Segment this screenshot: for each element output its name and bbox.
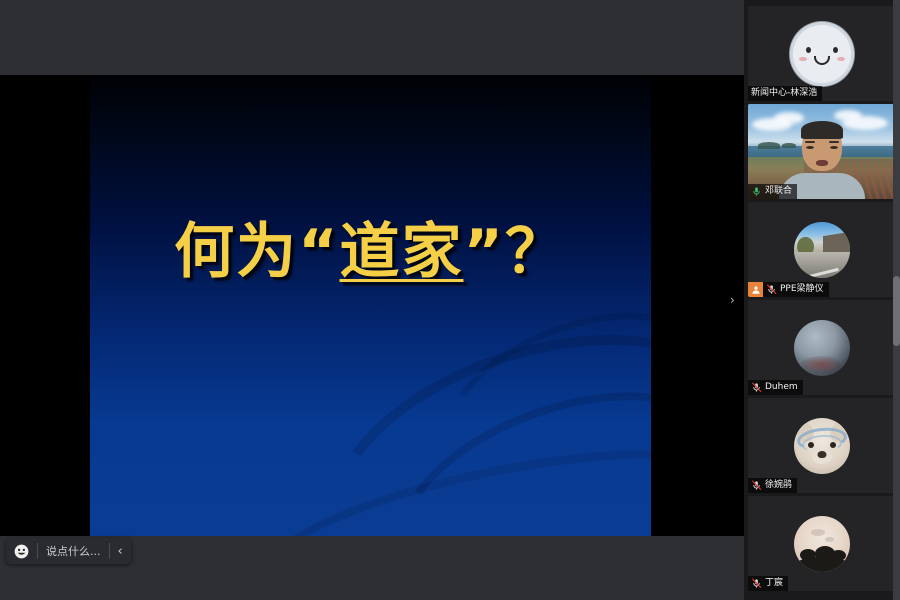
- avatar-blush: [837, 57, 845, 61]
- participant-name: 徐婉鹃: [765, 481, 792, 490]
- participant-footer: 徐婉鹃: [748, 478, 797, 493]
- participant-name-chip: 邓联合: [748, 184, 797, 199]
- participant-footer: 邓联合: [748, 184, 797, 199]
- chevron-right-icon[interactable]: ›: [730, 294, 735, 306]
- participant-name-chip: 徐婉鹃: [748, 478, 797, 493]
- participant-tile[interactable]: PPE梁静仪: [748, 202, 896, 297]
- participant-footer: 丁宸: [748, 576, 788, 591]
- cloud-shape: [834, 110, 862, 121]
- participant-name: Duhem: [765, 383, 798, 392]
- participant-name: 邓联合: [765, 187, 792, 196]
- island-shape: [758, 142, 780, 149]
- avatar-mouth: [814, 56, 830, 65]
- moon-crater: [811, 529, 825, 536]
- host-badge: [748, 282, 763, 297]
- chevron-left-icon: ‹: [118, 545, 123, 558]
- tree-silhouette: [800, 549, 816, 561]
- comment-input-placeholder: 说点什么...: [46, 543, 101, 559]
- street-photo-avatar: [794, 222, 850, 278]
- comment-bar[interactable]: 说点什么... ‹: [6, 538, 131, 564]
- person-eye: [830, 146, 838, 149]
- dog-eye: [830, 442, 836, 448]
- avatar-blush: [799, 57, 807, 61]
- planet-avatar: [794, 320, 850, 376]
- avatar-eye: [806, 47, 811, 53]
- microphone-muted-icon: [751, 480, 762, 491]
- slide-title-keyword: 道家: [340, 217, 464, 287]
- collapse-comment-bar-button[interactable]: ‹: [110, 538, 131, 564]
- filmstrip-scrollbar-track[interactable]: [893, 0, 900, 600]
- participant-name: 新闻中心-林深浩: [751, 89, 817, 98]
- microphone-muted-icon: [751, 578, 762, 589]
- meeting-window: 何为“道家”？ 说点什么... ‹ ›: [0, 0, 900, 600]
- participant-footer: 新闻中心-林深浩: [748, 86, 822, 101]
- slide-title: 何为“道家”？: [174, 222, 567, 282]
- person-brow: [829, 141, 839, 143]
- dog-avatar: [794, 418, 850, 474]
- participant-name: 丁宸: [765, 579, 783, 588]
- slide-title-quote-close: ”: [464, 217, 505, 287]
- filmstrip-scrollbar-thumb[interactable]: [893, 276, 900, 346]
- moon-avatar: [794, 516, 850, 572]
- person-hair: [801, 121, 843, 139]
- avatar-eye: [833, 47, 838, 53]
- participant-filmstrip[interactable]: › 新闻中心-林深浩: [744, 0, 900, 600]
- person-brow: [805, 141, 815, 143]
- microphone-muted-icon: [766, 284, 777, 295]
- cartoon-face-avatar: [790, 22, 854, 86]
- dog-nose: [818, 451, 827, 458]
- comment-input[interactable]: 说点什么...: [38, 538, 109, 564]
- participant-name-chip: 新闻中心-林深浩: [748, 86, 822, 101]
- microphone-muted-icon: [751, 382, 762, 393]
- participant-tile-active-speaker[interactable]: 邓联合: [748, 104, 896, 199]
- slide-title-suffix: ？: [505, 217, 567, 287]
- participant-footer: PPE梁静仪: [748, 282, 829, 297]
- emoji-button[interactable]: [6, 538, 37, 564]
- participant-tile[interactable]: 徐婉鹃: [748, 398, 896, 493]
- dog-eye: [808, 442, 814, 448]
- slide-title-prefix: 何为: [174, 217, 298, 287]
- host-person-icon: [751, 285, 761, 295]
- slide-title-area: 何为“道家”？: [90, 75, 651, 536]
- person-mouth: [816, 160, 828, 166]
- tree-silhouette: [831, 550, 846, 561]
- presentation-slide[interactable]: 何为“道家”？: [90, 75, 651, 536]
- participant-footer: Duhem: [748, 380, 803, 395]
- participant-name-chip: Duhem: [748, 380, 803, 395]
- participant-tile[interactable]: Duhem: [748, 300, 896, 395]
- participant-tile[interactable]: 丁宸: [748, 496, 896, 591]
- smiley-icon: [14, 544, 29, 559]
- person-eye: [806, 146, 814, 149]
- moon-crater: [825, 537, 834, 542]
- participant-name-chip: 丁宸: [748, 576, 788, 591]
- participant-name: PPE梁静仪: [780, 285, 824, 294]
- participant-tile[interactable]: 新闻中心-林深浩: [748, 6, 896, 101]
- shared-screen-stage: 何为“道家”？ 说点什么... ‹: [0, 0, 744, 600]
- slide-title-quote-open: “: [298, 217, 339, 287]
- participant-name-chip: PPE梁静仪: [763, 282, 829, 297]
- planet-surface-patch: [801, 356, 841, 373]
- microphone-unmuted-icon: [751, 186, 762, 197]
